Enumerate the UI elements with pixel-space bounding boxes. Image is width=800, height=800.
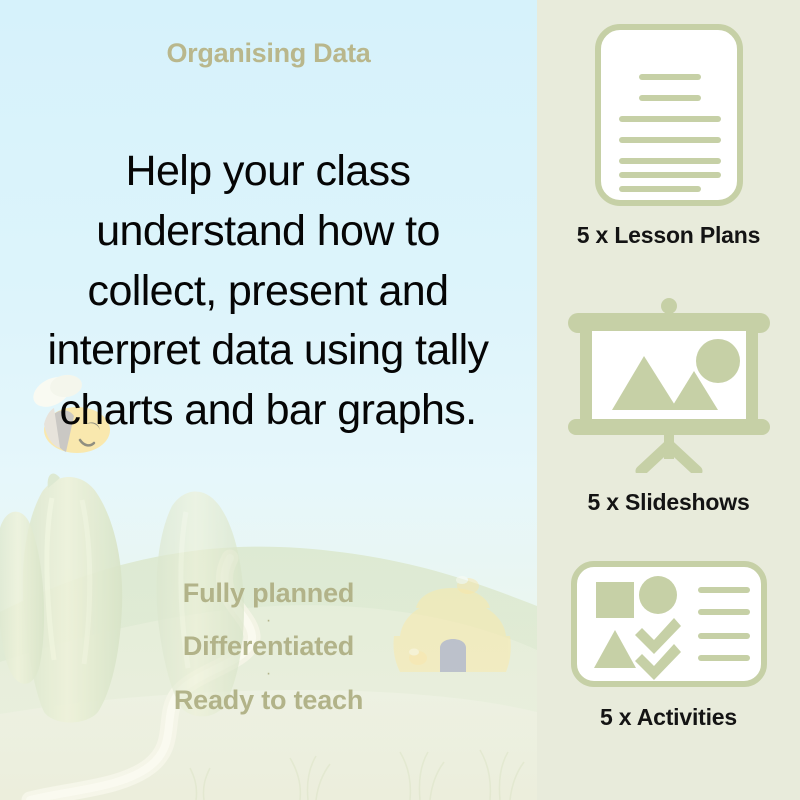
tagline-separator-2: · xyxy=(0,663,537,685)
presentation-screen-icon xyxy=(566,295,772,473)
feature-label-activities: 5 x Activities xyxy=(600,704,737,731)
feature-slideshows: 5 x Slideshows xyxy=(537,295,800,516)
feature-lesson-plans: 5 x Lesson Plans xyxy=(537,22,800,249)
headline-text: Help your class understand how to collec… xyxy=(38,142,498,441)
eyebrow-title: Organising Data xyxy=(0,38,537,69)
tagline-block: Fully planned · Differentiated · Ready t… xyxy=(0,578,537,717)
features-panel: 5 x Lesson Plans xyxy=(537,0,800,800)
tagline-separator-1: · xyxy=(0,610,537,632)
feature-activities: 5 x Activities xyxy=(537,560,800,731)
feature-label-lesson-plans: 5 x Lesson Plans xyxy=(577,222,760,249)
tagline-line-3: Ready to teach xyxy=(0,685,537,717)
document-icon xyxy=(593,22,745,208)
activity-card-icon xyxy=(570,560,768,688)
tagline-line-1: Fully planned xyxy=(0,578,537,610)
feature-label-slideshows: 5 x Slideshows xyxy=(587,489,749,516)
left-panel: Organising Data Help your class understa… xyxy=(0,0,537,800)
tagline-line-2: Differentiated xyxy=(0,631,537,663)
promo-graphic: Organising Data Help your class understa… xyxy=(0,0,800,800)
